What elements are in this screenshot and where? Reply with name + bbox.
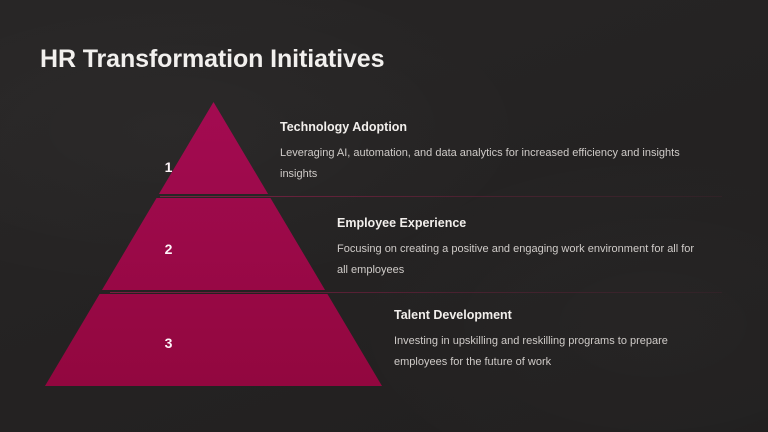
initiative-1-title: Technology Adoption <box>280 120 700 134</box>
initiative-2-title: Employee Experience <box>337 216 707 230</box>
pyramid-segment-number-2: 2 <box>0 241 337 257</box>
initiative-block-2: Employee Experience Focusing on creating… <box>337 216 707 282</box>
initiative-3-title: Talent Development <box>394 308 714 322</box>
initiative-block-3: Talent Development Investing in upskilli… <box>394 308 714 374</box>
initiative-1-body: Leveraging AI, automation, and data anal… <box>280 143 700 186</box>
slide-canvas: HR Transformation Initiatives 1 2 3 Tech… <box>0 0 768 432</box>
page-title: HR Transformation Initiatives <box>40 45 384 74</box>
pyramid-segment-number-3: 3 <box>0 335 337 351</box>
initiative-block-1: Technology Adoption Leveraging AI, autom… <box>280 120 700 186</box>
initiative-3-body: Investing in upskilling and reskilling p… <box>394 331 714 374</box>
initiative-2-body: Focusing on creating a positive and enga… <box>337 239 707 282</box>
